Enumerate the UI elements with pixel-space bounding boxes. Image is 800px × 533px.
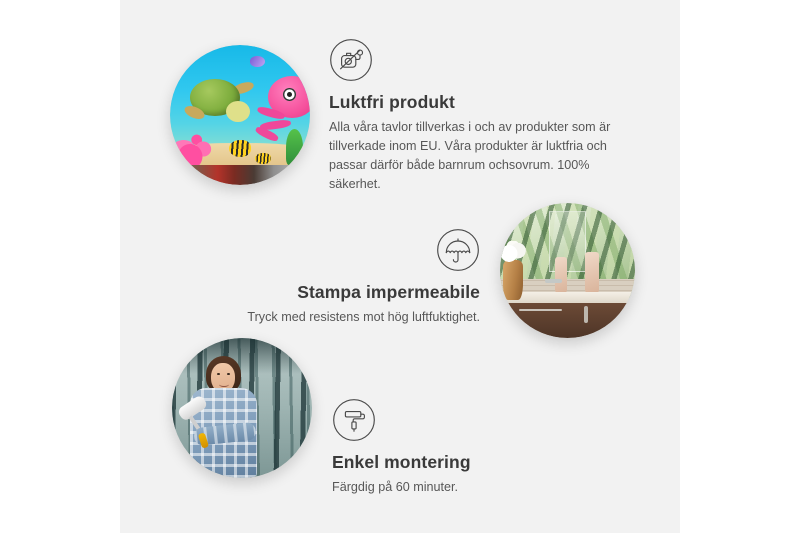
feature-body: Färgdig på 60 minuter. [332, 478, 612, 497]
paint-roller-icon [332, 398, 376, 442]
screenshot-stage: Luktfri produkt Alla våra tavlor tillver… [0, 0, 800, 533]
no-fragrance-spray-bottle-icon [329, 38, 373, 82]
photo-bathroom-tropical-wallpaper [500, 203, 635, 338]
feature-body: Alla våra tavlor tillverkas i och av pro… [329, 118, 624, 195]
feature-waterproof: Stampa impermeabile Tryck med resistens … [215, 228, 480, 327]
feature-panel: Luktfri produkt Alla våra tavlor tillver… [120, 0, 680, 533]
feature-odourless: Luktfri produkt Alla våra tavlor tillver… [329, 38, 624, 194]
photo-underwater-kids-mural [170, 45, 310, 185]
feature-headline: Stampa impermeabile [215, 282, 480, 304]
photo-woman-with-paint-roller-forest [172, 338, 312, 478]
umbrella-icon [436, 228, 480, 272]
feature-headline: Luktfri produkt [329, 92, 624, 114]
bathroom-illustration [500, 203, 635, 338]
underwater-illustration [170, 45, 310, 185]
feature-headline: Enkel montering [332, 452, 612, 474]
forest-portrait-illustration [172, 338, 312, 478]
feature-easy-mounting: Enkel montering Färgdig på 60 minuter. [332, 398, 612, 497]
feature-body: Tryck med resistens mot hög luftfuktighe… [215, 308, 480, 327]
